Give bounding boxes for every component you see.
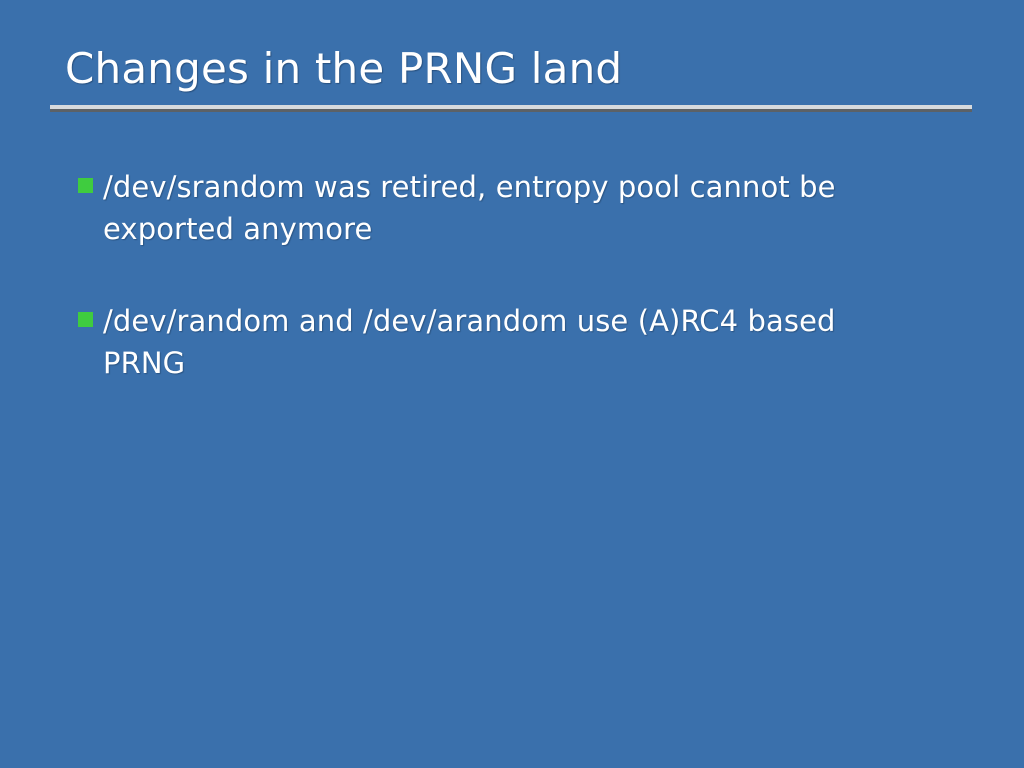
divider-shadow-bar xyxy=(50,109,972,112)
list-item: /dev/srandom was retired, entropy pool c… xyxy=(78,166,958,250)
list-item: /dev/random and /dev/arandom use (A)RC4 … xyxy=(78,300,958,384)
bullet-text: /dev/random and /dev/arandom use (A)RC4 … xyxy=(103,300,893,384)
slide-body: /dev/srandom was retired, entropy pool c… xyxy=(78,166,958,434)
bullet-text: /dev/srandom was retired, entropy pool c… xyxy=(103,166,893,250)
square-bullet-icon xyxy=(78,312,93,327)
title-divider xyxy=(50,105,972,112)
square-bullet-icon xyxy=(78,178,93,193)
title-block: Changes in the PRNG land xyxy=(50,44,972,94)
page-title: Changes in the PRNG land xyxy=(65,44,972,94)
presentation-slide: Changes in the PRNG land /dev/srandom wa… xyxy=(0,0,1024,768)
